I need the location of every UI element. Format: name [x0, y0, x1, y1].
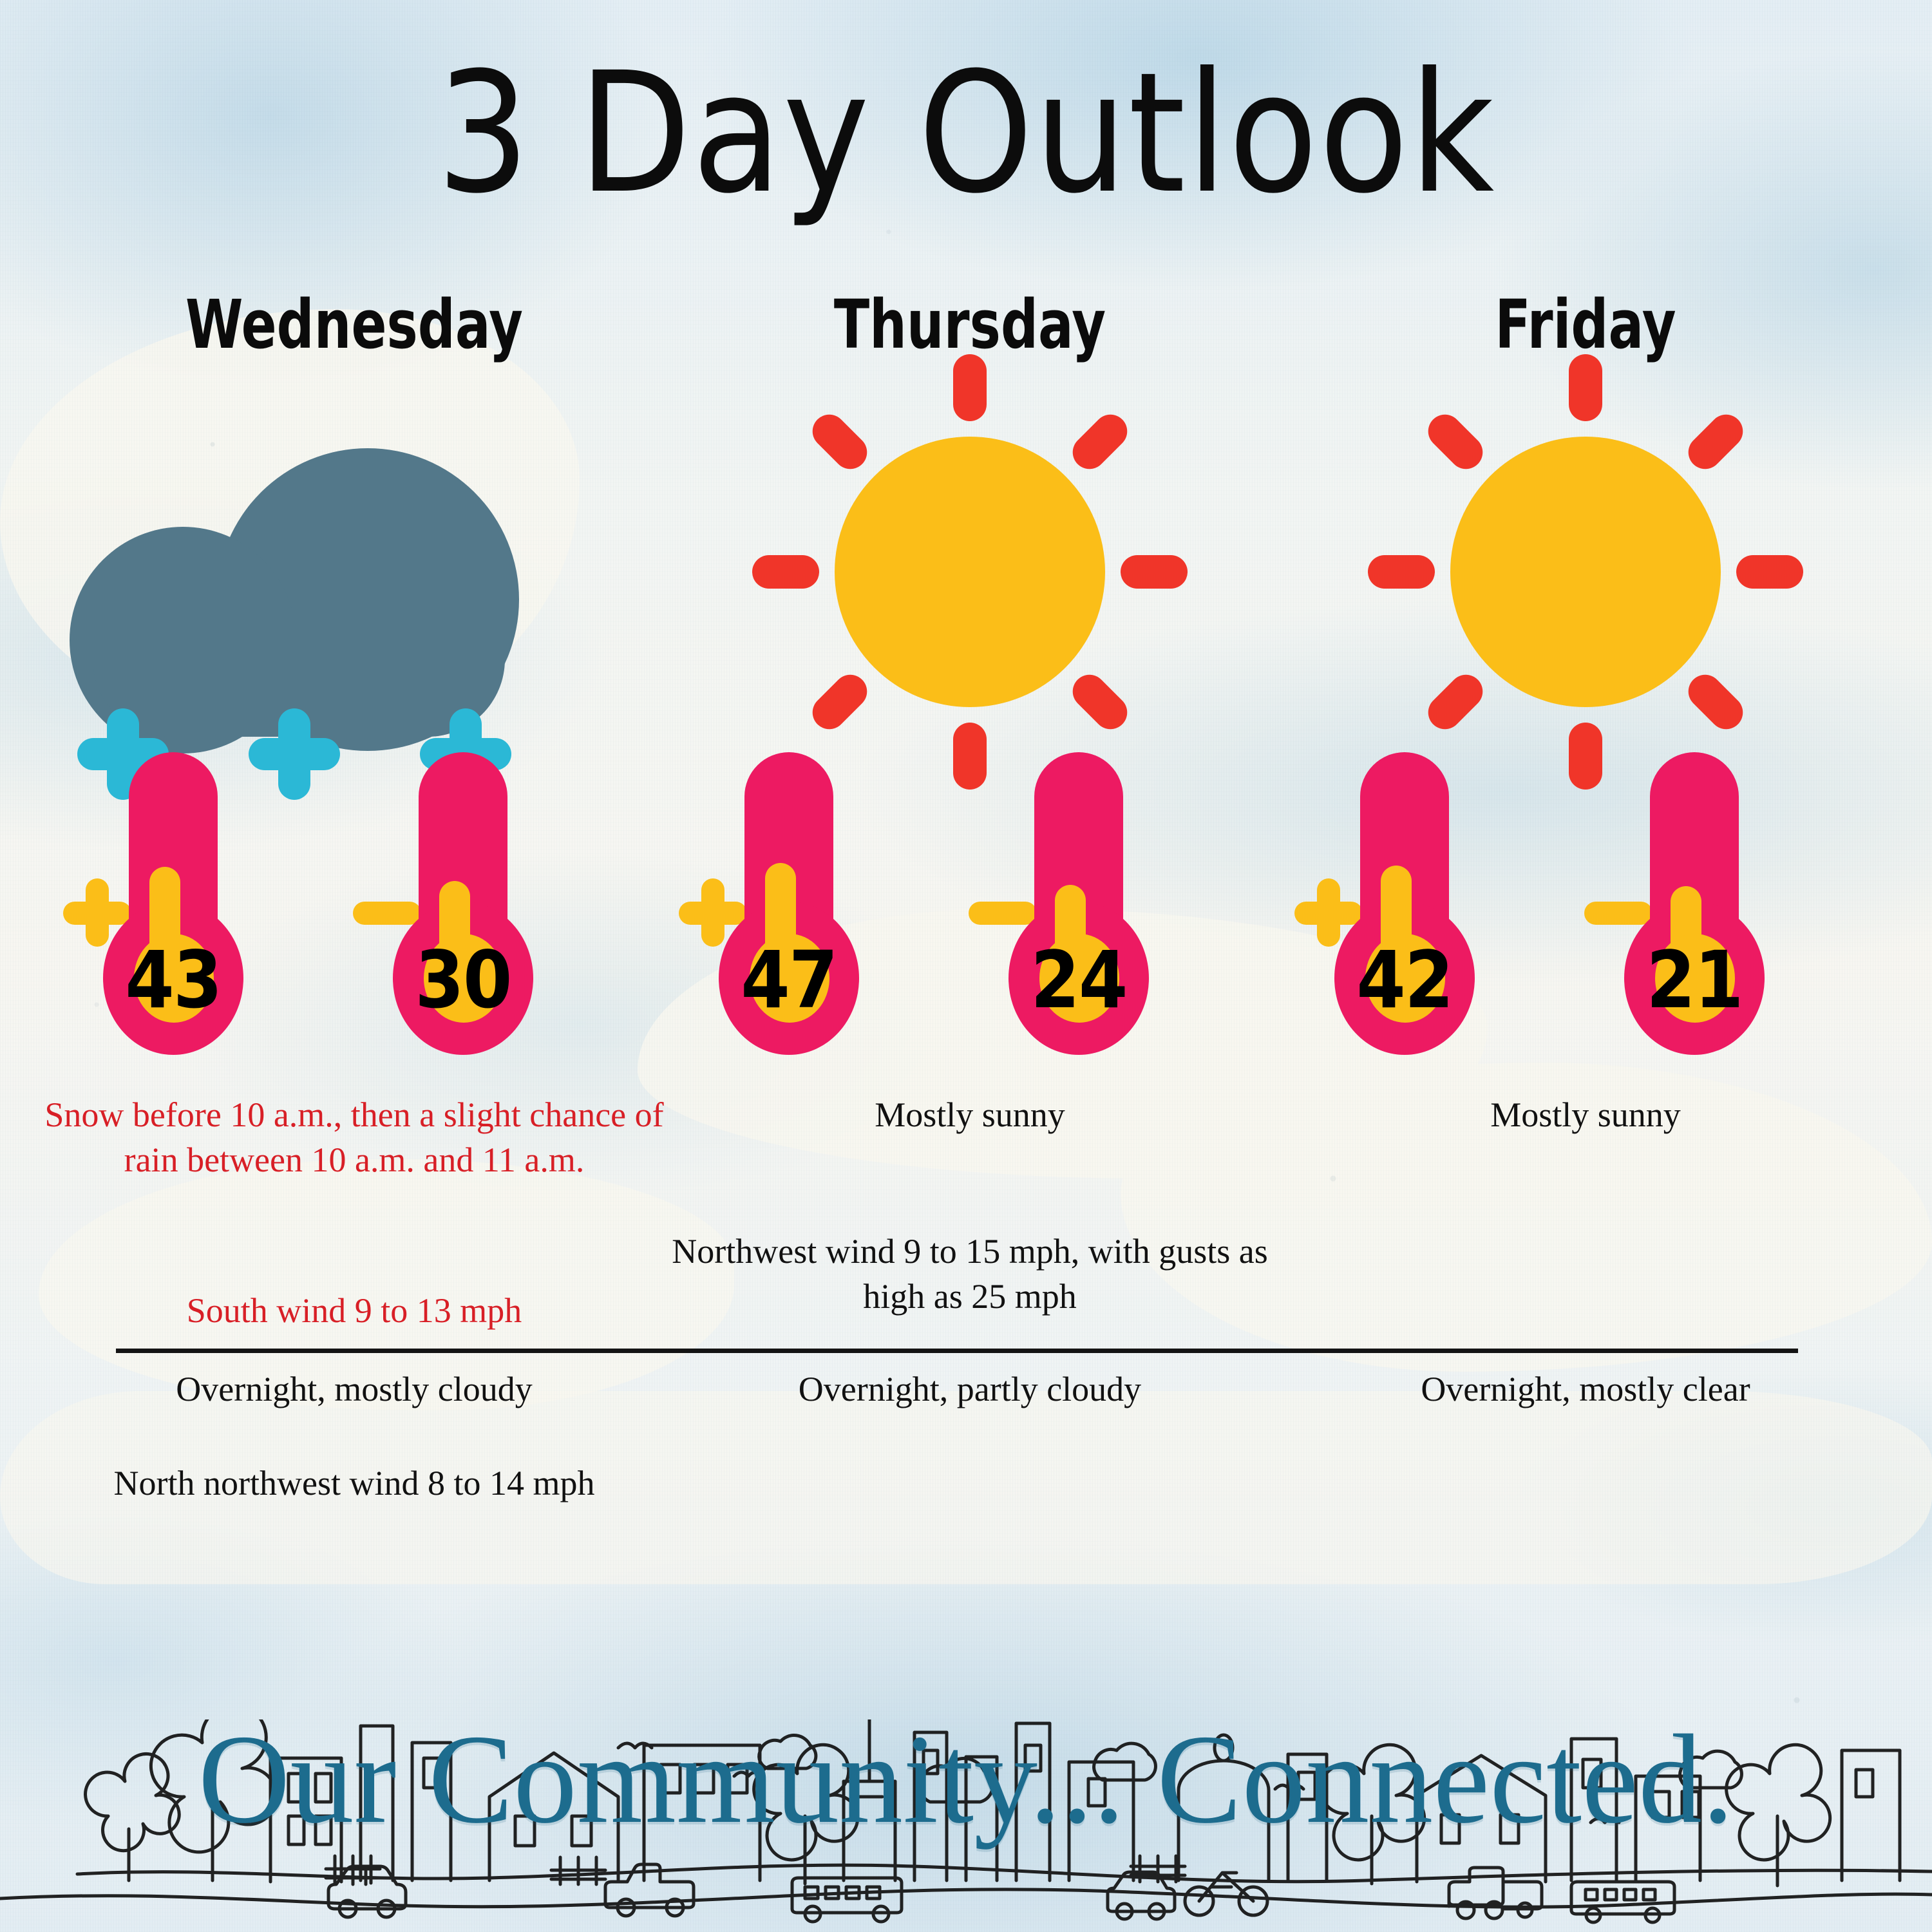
- sun-ray-icon: [1681, 668, 1750, 736]
- sun-ray-icon: [1421, 408, 1490, 476]
- overnight-friday: Overnight, mostly clear: [1270, 1367, 1901, 1412]
- weather-outlook-poster: 3 Day Outlook Wednesday: [0, 0, 1932, 1932]
- overnight-wind-wednesday: North northwest wind 8 to 14 mph: [39, 1461, 670, 1506]
- high-temp-value: 43: [110, 905, 236, 1055]
- sun-ray-icon: [1066, 668, 1134, 736]
- sun-icon: [1328, 386, 1843, 747]
- forecast-description-thursday: Mostly sunny: [654, 1092, 1285, 1137]
- wind-wednesday: South wind 9 to 13 mph: [39, 1288, 670, 1333]
- footer: Our Community... Connected.: [0, 1636, 1932, 1932]
- forecast-column-friday: Friday 42: [1283, 0, 1888, 1417]
- forecast-description-friday: Mostly sunny: [1270, 1092, 1901, 1137]
- overnight-thursday: Overnight, partly cloudy: [654, 1367, 1285, 1412]
- day-name-wednesday: Wednesday: [118, 291, 590, 358]
- weather-icon-wednesday: [52, 386, 657, 747]
- sun-ray-icon: [1421, 668, 1490, 736]
- brand-tagline: Our Community... Connected.: [0, 1716, 1932, 1843]
- sun-icon: [712, 386, 1227, 747]
- weather-icon-friday: [1283, 386, 1888, 747]
- sun-ray-icon: [1736, 555, 1803, 589]
- sun-ray-icon: [806, 408, 874, 476]
- weather-icon-thursday: [667, 386, 1273, 747]
- section-divider: [116, 1349, 1798, 1353]
- low-temp-value: 24: [1016, 905, 1142, 1055]
- thermometer-low-friday: 21: [1586, 752, 1843, 1055]
- thermometers-thursday: 47 24: [667, 752, 1273, 1055]
- sun-ray-icon: [806, 668, 874, 736]
- sun-ray-icon: [1681, 408, 1750, 476]
- thermometers-wednesday: 43 30: [52, 752, 657, 1055]
- sun-ray-icon: [1066, 408, 1134, 476]
- forecast-column-wednesday: Wednesday: [52, 0, 657, 1417]
- forecast-description-wednesday: Snow before 10 a.m., then a slight chanc…: [39, 1092, 670, 1182]
- forecast-column-thursday: Thursday 47: [667, 0, 1273, 1417]
- low-temp-value: 21: [1631, 905, 1757, 1055]
- day-name-thursday: Thursday: [734, 291, 1206, 358]
- sun-ray-icon: [953, 354, 987, 421]
- thermometers-friday: 42 21: [1283, 752, 1888, 1055]
- thermometer-high-thursday: 47: [680, 752, 938, 1055]
- sun-ray-icon: [1569, 354, 1602, 421]
- sun-ray-icon: [1121, 555, 1188, 589]
- day-name-friday: Friday: [1349, 291, 1821, 358]
- thermometer-low-wednesday: 30: [354, 752, 612, 1055]
- thermometer-high-wednesday: 43: [64, 752, 322, 1055]
- high-temp-value: 47: [726, 905, 852, 1055]
- wind-thursday: Northwest wind 9 to 15 mph, with gusts a…: [654, 1229, 1285, 1319]
- thermometer-high-friday: 42: [1296, 752, 1553, 1055]
- low-temp-value: 30: [400, 905, 526, 1055]
- sun-ray-icon: [1368, 555, 1435, 589]
- high-temp-value: 42: [1341, 905, 1468, 1055]
- thermometer-low-thursday: 24: [970, 752, 1227, 1055]
- sun-ray-icon: [752, 555, 819, 589]
- overnight-wednesday: Overnight, mostly cloudy: [39, 1367, 670, 1412]
- cloud-icon: [70, 448, 520, 719]
